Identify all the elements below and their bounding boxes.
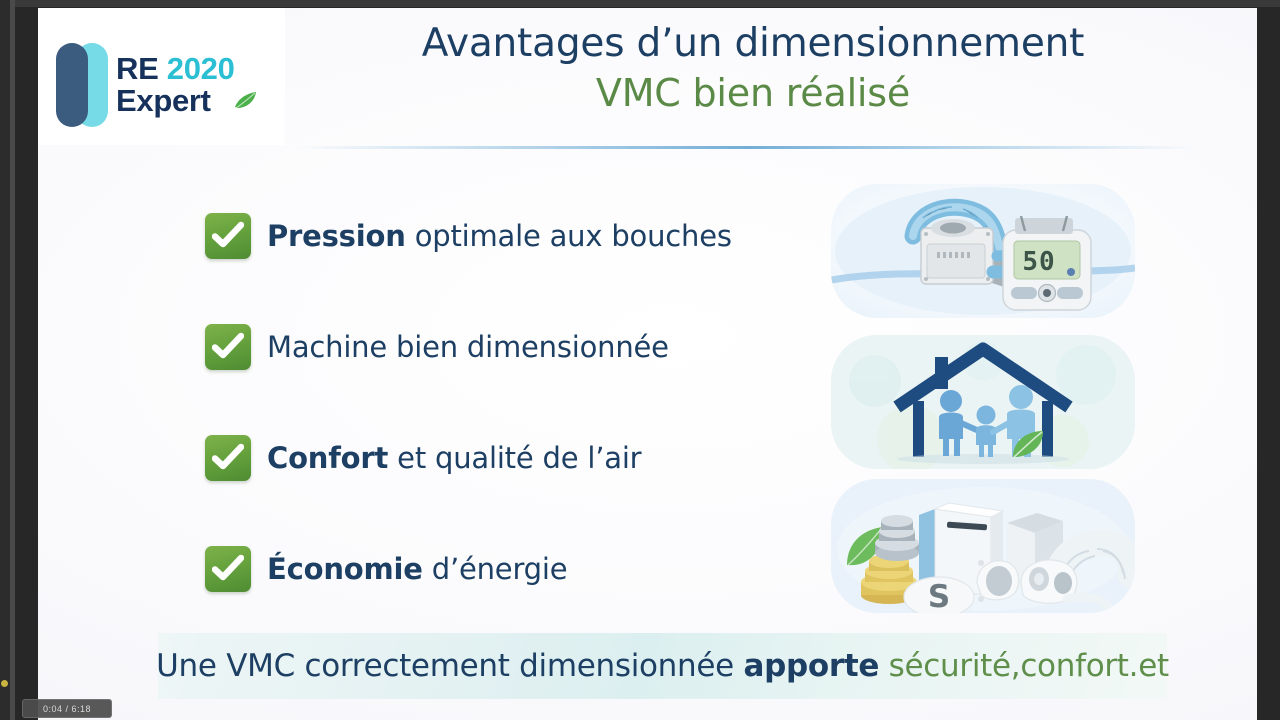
player-left-letterbox-inner <box>10 0 15 720</box>
player-indicator-dot <box>1 680 8 687</box>
benefit-rest: optimale aux bouches <box>406 219 732 253</box>
leaf-icon <box>233 91 257 111</box>
check-icon <box>205 213 251 259</box>
benefit-text: Économie d’énergie <box>267 552 567 586</box>
vmc-unit-with-pressure-meter-image: 50 <box>831 184 1135 318</box>
logo-wordmark: RE 2020 Expert <box>116 53 235 116</box>
logo-text-re: RE <box>116 51 158 86</box>
slide-title: Avantages d’un dimensionnement VMC bien … <box>293 20 1213 116</box>
check-icon <box>205 324 251 370</box>
benefit-rest: bien dimensionnée <box>387 330 669 364</box>
summary-banner: Une VMC correctement dimensionnée apport… <box>158 633 1167 699</box>
benefit-rest: et qualité de l’air <box>388 441 641 475</box>
benefit-text: Confort et qualité de l’air <box>267 441 641 475</box>
logo-line-one: RE 2020 <box>116 53 235 85</box>
benefit-lead: Pression <box>267 219 406 253</box>
energy-savings-equipment-image: S <box>831 479 1135 613</box>
player-top-letterbox <box>0 0 1280 7</box>
summary-banner-text: Une VMC correctement dimensionnée apport… <box>156 648 1169 684</box>
svg-text:50: 50 <box>1022 247 1055 277</box>
header-divider <box>296 146 1198 149</box>
list-item: Confort et qualité de l’air <box>205 402 825 513</box>
video-player-frame: RE 2020 Expert Avantages d’un dimensionn… <box>0 0 1280 720</box>
benefit-lead: Confort <box>267 441 388 475</box>
house-family-air-quality-image <box>831 335 1135 469</box>
svg-text:S: S <box>928 579 950 613</box>
benefit-text: Machine bien dimensionnée <box>267 330 669 364</box>
list-item: Machine bien dimensionnée <box>205 291 825 402</box>
slide-title-line-one: Avantages d’un dimensionnement <box>293 20 1213 68</box>
benefit-lead: Économie <box>267 552 423 586</box>
player-left-letterbox <box>0 0 10 720</box>
logo-mark-icon <box>56 43 108 127</box>
list-item: Économie d’énergie <box>205 513 825 624</box>
benefit-lead: Machine <box>267 330 387 364</box>
banner-part-green: sécurité,confort.et <box>879 648 1169 684</box>
benefit-rest: d’énergie <box>423 552 568 586</box>
logo-text-expert: Expert <box>116 85 235 117</box>
presentation-slide: RE 2020 Expert Avantages d’un dimensionn… <box>38 8 1257 720</box>
banner-part-one: Une VMC correctement dimensionnée <box>156 648 743 684</box>
list-item: Pression optimale aux bouches <box>205 180 825 291</box>
logo-pill-dark <box>56 43 88 127</box>
benefits-list: Pression optimale aux bouches Machine bi… <box>205 180 825 624</box>
video-timestamp: 0:04 / 6:18 <box>22 699 112 718</box>
brand-logo: RE 2020 Expert <box>56 32 291 138</box>
banner-part-bold: apporte <box>743 648 879 684</box>
check-icon <box>205 435 251 481</box>
benefit-text: Pression optimale aux bouches <box>267 219 732 253</box>
check-icon <box>205 546 251 592</box>
logo-text-2020: 2020 <box>167 51 235 86</box>
slide-title-line-two: VMC bien réalisé <box>293 70 1213 116</box>
